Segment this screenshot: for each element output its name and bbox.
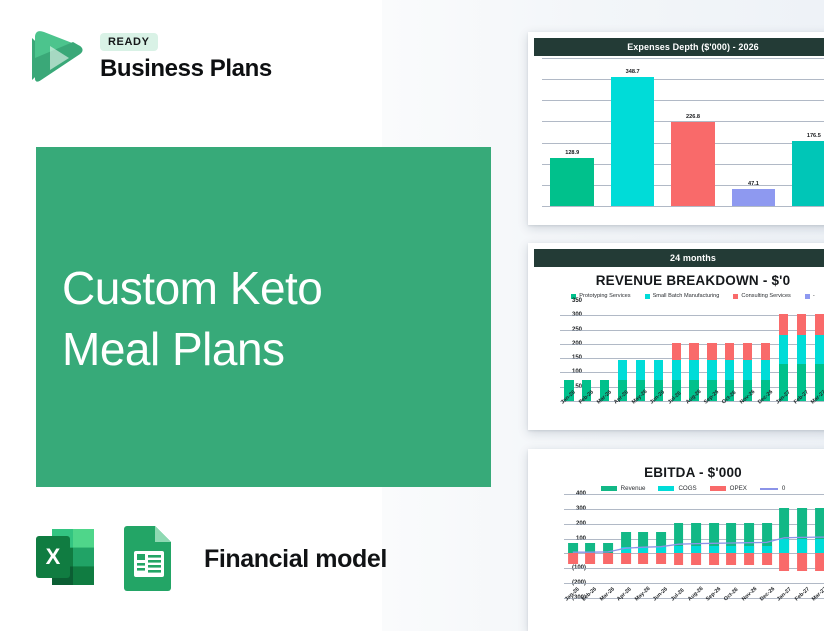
footer-format-row: X Financial model xyxy=(30,521,387,598)
revenue-bar-group xyxy=(667,301,685,401)
stacked-bar xyxy=(797,314,806,401)
bar-value-label: 47.1 xyxy=(748,181,759,187)
bar-segment xyxy=(797,314,806,335)
legend-swatch xyxy=(760,488,778,490)
chart-card-revenue[interactable]: 24 months REVENUE BREAKDOWN - $'0 Protot… xyxy=(528,243,824,430)
bar-value-label: 128.9 xyxy=(565,150,579,156)
bar-segment xyxy=(672,343,681,360)
legend-item: - xyxy=(805,293,815,299)
ebitda-chart-title: EBITDA - $'000 xyxy=(534,455,824,482)
page-title: Custom Keto Meal Plans xyxy=(62,258,462,380)
legend-label: COGS xyxy=(678,485,696,492)
bar-segment xyxy=(672,360,681,381)
chart-card-expenses[interactable]: Expenses Depth ($'000) - 2026 128.9348.7… xyxy=(528,32,824,225)
ready-badge: READY xyxy=(100,33,158,51)
bar-segment xyxy=(815,314,824,335)
brand-text-block: READY Business Plans xyxy=(100,33,272,83)
revenue-bar-group xyxy=(792,301,810,401)
expenses-plot-area: 128.9348.7226.847.1176.5 xyxy=(542,58,824,206)
legend-item: Revenue xyxy=(601,485,646,492)
slide-canvas: READY Business Plans Custom Keto Meal Pl… xyxy=(0,0,824,631)
revenue-bar-group xyxy=(649,301,667,401)
legend-item: OPEX xyxy=(710,485,747,492)
bar-segment xyxy=(636,360,645,381)
legend-label: Prototyping Services xyxy=(579,293,630,299)
bar xyxy=(732,189,775,206)
revenue-bar-group xyxy=(810,301,824,401)
ebitda-x-axis: Jan-26Feb-26Mar-26Apr-26May-26Jun-26Jul-… xyxy=(564,598,824,604)
legend-label: Revenue xyxy=(621,485,646,492)
revenue-bar-group xyxy=(560,301,578,401)
expenses-bar-group: 226.8 xyxy=(663,58,723,206)
bar-segment xyxy=(689,360,698,381)
revenue-header-bar: 24 months xyxy=(534,249,824,267)
expenses-card-inner: Expenses Depth ($'000) - 2026 128.9348.7… xyxy=(534,38,824,219)
bar-segment xyxy=(743,360,752,381)
bar-segment xyxy=(707,360,716,381)
revenue-bar-group xyxy=(739,301,757,401)
revenue-bar-group xyxy=(596,301,614,401)
bar-segment xyxy=(707,343,716,360)
chart-card-ebitda[interactable]: EBITDA - $'000 RevenueCOGSOPEX0 40030020… xyxy=(528,449,824,631)
bar-segment xyxy=(725,360,734,381)
revenue-bar-group xyxy=(578,301,596,401)
ebitda-zero-series-line xyxy=(564,494,824,631)
bar xyxy=(550,158,593,206)
revenue-plot-area: 35030025020015010050- Jan-26Feb-26Mar-26… xyxy=(560,301,824,401)
revenue-bar-group xyxy=(685,301,703,401)
bar-segment xyxy=(725,343,734,360)
bar-value-label: 226.8 xyxy=(686,114,700,120)
bar-segment xyxy=(761,343,770,360)
stacked-bar xyxy=(779,314,788,401)
play-triangle-logo-icon xyxy=(28,28,86,88)
legend-item: 0 xyxy=(760,485,785,492)
bar-segment xyxy=(797,335,806,365)
expenses-bar-group: 128.9 xyxy=(542,58,602,206)
revenue-chart-title: REVENUE BREAKDOWN - $'0 xyxy=(534,267,824,290)
ebitda-card-inner: EBITDA - $'000 RevenueCOGSOPEX0 40030020… xyxy=(534,455,824,625)
legend-swatch xyxy=(645,294,650,299)
expenses-bar-group: 348.7 xyxy=(602,58,662,206)
bar-value-label: 348.7 xyxy=(626,69,640,75)
bar xyxy=(792,141,824,206)
legend-label: 0 xyxy=(782,485,785,492)
brand-lockup: READY Business Plans xyxy=(28,28,272,88)
revenue-bar-group xyxy=(632,301,650,401)
bar-value-label: 176.5 xyxy=(807,133,821,139)
revenue-bar-group xyxy=(757,301,775,401)
revenue-bar-group xyxy=(721,301,739,401)
legend-swatch xyxy=(733,294,738,299)
legend-swatch xyxy=(601,486,617,491)
bar xyxy=(611,77,654,206)
footer-label: Financial model xyxy=(204,545,387,574)
expenses-bar-group: 176.5 xyxy=(784,58,824,206)
bar-segment xyxy=(761,360,770,381)
expenses-bar-group: 47.1 xyxy=(723,58,783,206)
legend-label: - xyxy=(813,293,815,299)
gridline xyxy=(542,206,824,207)
microsoft-excel-icon[interactable]: X xyxy=(30,521,102,598)
brand-name: Business Plans xyxy=(100,55,272,83)
legend-item: Consulting Services xyxy=(733,293,790,299)
ebitda-plot-area: 400300200100-(100)(200)(300) Jan-26Feb-2… xyxy=(564,494,824,598)
bar-segment xyxy=(779,335,788,365)
legend-item: Small Batch Manufacturing xyxy=(645,293,720,299)
bar-segment xyxy=(689,343,698,360)
expenses-bars: 128.9348.7226.847.1176.5 xyxy=(542,58,824,206)
legend-swatch xyxy=(805,294,810,299)
revenue-card-inner: 24 months REVENUE BREAKDOWN - $'0 Protot… xyxy=(534,249,824,424)
bar xyxy=(671,122,714,206)
revenue-bar-group xyxy=(775,301,793,401)
bar-segment xyxy=(743,343,752,360)
legend-label: Consulting Services xyxy=(741,293,790,299)
google-sheets-icon[interactable] xyxy=(119,521,179,598)
bar-segment xyxy=(815,335,824,365)
revenue-bar-group xyxy=(614,301,632,401)
legend-swatch xyxy=(710,486,726,491)
bar-segment xyxy=(618,360,627,381)
legend-item: COGS xyxy=(658,485,696,492)
bar-segment xyxy=(779,314,788,335)
revenue-bars xyxy=(560,301,824,401)
svg-text:X: X xyxy=(46,544,61,569)
legend-label: OPEX xyxy=(730,485,747,492)
revenue-x-axis: Jan-26Feb-26Mar-26Apr-26May-26Jun-26Jul-… xyxy=(560,401,824,407)
revenue-bar-group xyxy=(703,301,721,401)
legend-label: Small Batch Manufacturing xyxy=(653,293,720,299)
legend-swatch xyxy=(658,486,674,491)
expenses-header-bar: Expenses Depth ($'000) - 2026 xyxy=(534,38,824,56)
bar-segment xyxy=(654,360,663,381)
